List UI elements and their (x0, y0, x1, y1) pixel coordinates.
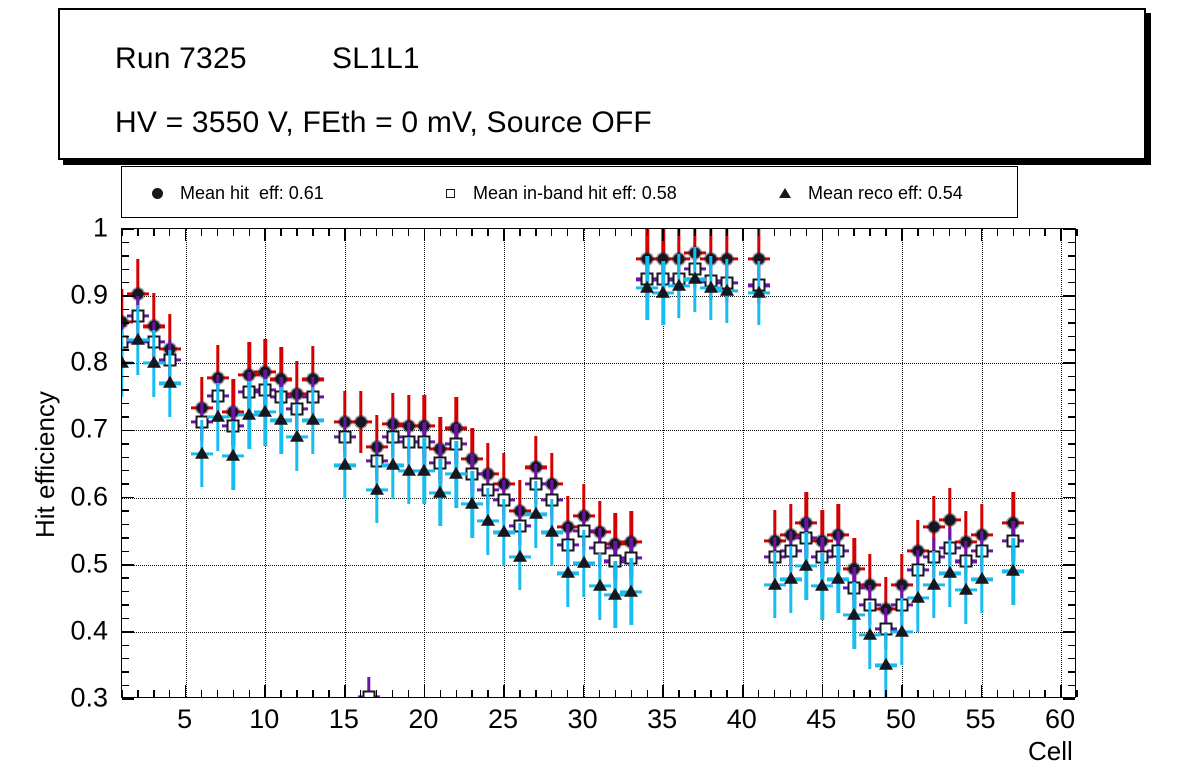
x-axis-tick-label: 15 (329, 704, 359, 735)
y-axis-minor-tick-right (1068, 336, 1075, 337)
x-axis-minor-tick-top (965, 229, 966, 236)
y-axis-tick (122, 228, 134, 230)
data-point-hit-eff (928, 522, 939, 533)
y-axis-minor-tick-right (1068, 685, 1075, 686)
x-axis-tick (344, 685, 346, 697)
x-axis-minor-tick (933, 690, 934, 697)
x-axis-minor-tick (678, 690, 679, 697)
data-point-reco-eff (386, 458, 400, 470)
y-axis-tick-right (1063, 698, 1075, 700)
x-axis-minor-tick-top (121, 229, 122, 236)
x-axis-minor-tick (885, 690, 886, 697)
data-point-reco-eff (768, 578, 782, 590)
x-axis-minor-tick-top (487, 229, 488, 236)
filled-circle-icon (144, 188, 170, 199)
y-axis-minor-tick (122, 349, 129, 350)
legend-label-reco-eff: Mean reco eff: 0.54 (808, 183, 963, 204)
x-axis-tick (901, 685, 903, 697)
x-axis-minor-tick (567, 690, 568, 697)
x-axis-minor-tick-top (853, 229, 854, 236)
x-axis-minor-tick (296, 690, 297, 697)
y-axis-minor-tick (122, 403, 129, 404)
y-axis-tick-right (1063, 362, 1075, 364)
data-point-reco-eff (242, 408, 256, 420)
x-axis-minor-tick-top (280, 229, 281, 236)
data-point-reco-eff (306, 413, 320, 425)
y-axis-minor-tick-right (1068, 551, 1075, 552)
data-point-reco-eff (593, 579, 607, 591)
x-axis-tick-label: 35 (647, 704, 677, 735)
x-axis-minor-tick-top (249, 229, 250, 236)
x-axis-tick-label: 20 (408, 704, 438, 735)
data-point-inband-eff (362, 690, 375, 697)
data-point-reco-eff (847, 608, 861, 620)
data-point-reco-eff (481, 514, 495, 526)
x-axis-minor-tick-top (519, 229, 520, 236)
data-point-reco-eff (417, 464, 431, 476)
y-axis-tick-right (1063, 430, 1075, 432)
x-axis-tick (503, 685, 505, 697)
y-axis-minor-tick (122, 591, 129, 592)
y-axis-minor-tick-right (1068, 671, 1075, 672)
data-point-reco-eff (195, 447, 209, 459)
data-point-reco-eff (640, 281, 654, 293)
x-axis-minor-tick (328, 690, 329, 697)
x-axis-minor-tick-top (456, 229, 457, 236)
grid-line-vertical (186, 229, 187, 697)
y-axis-tick (122, 698, 134, 700)
y-axis-minor-tick-right (1068, 389, 1075, 390)
y-axis-minor-tick-right (1068, 510, 1075, 511)
data-point-reco-eff (402, 464, 416, 476)
y-axis-minor-tick (122, 483, 129, 484)
y-axis-tick-right (1063, 631, 1075, 633)
grid-line-vertical (1061, 229, 1062, 697)
y-axis-minor-tick (122, 470, 129, 471)
x-axis-minor-tick (360, 690, 361, 697)
x-axis-minor-tick-top (153, 229, 154, 236)
x-axis-minor-tick (615, 690, 616, 697)
x-axis-minor-tick-top (949, 229, 950, 236)
y-axis-minor-tick (122, 282, 129, 283)
data-point-reco-eff (879, 658, 893, 670)
y-axis-minor-tick (122, 322, 129, 323)
y-axis-tick-label: 0.6 (70, 481, 108, 512)
y-axis-tick-right (1063, 228, 1075, 230)
x-axis-minor-tick-top (328, 229, 329, 236)
x-axis-minor-tick-top (201, 229, 202, 236)
data-point-hit-eff (355, 416, 366, 427)
x-axis-tick-top (503, 229, 505, 241)
y-axis-tick-label: 1 (93, 213, 108, 244)
data-point-reco-eff (433, 486, 447, 498)
x-axis-minor-tick (806, 690, 807, 697)
x-axis-tick (742, 685, 744, 697)
x-axis-minor-tick (997, 690, 998, 697)
x-axis-minor-tick-top (440, 229, 441, 236)
y-axis-minor-tick (122, 510, 129, 511)
title-box: Run 7325 SL1L1 HV = 3550 V, FEth = 0 mV,… (58, 8, 1146, 160)
y-axis-tick-label: 0.3 (70, 683, 108, 714)
x-axis-minor-tick-top (615, 229, 616, 236)
y-axis-tick-label: 0.5 (70, 548, 108, 579)
x-axis-minor-tick (392, 690, 393, 697)
x-axis-minor-tick (233, 690, 234, 697)
grid-line-vertical (265, 229, 266, 697)
x-axis-minor-tick-top (997, 229, 998, 236)
y-axis-minor-tick (122, 457, 129, 458)
open-square-icon (437, 189, 463, 198)
x-axis-minor-tick (1076, 690, 1077, 697)
x-axis-minor-tick-top (710, 229, 711, 236)
x-axis-minor-tick (1044, 690, 1045, 697)
y-axis-minor-tick (122, 685, 129, 686)
x-axis-minor-tick (376, 690, 377, 697)
data-point-reco-eff (863, 628, 877, 640)
data-point-reco-eff (131, 333, 145, 345)
data-point-reco-eff (959, 583, 973, 595)
plot-area (122, 229, 1075, 697)
x-axis-minor-tick (1013, 690, 1014, 697)
run-title-line: Run 7325 SL1L1 (115, 42, 420, 76)
data-point-reco-eff (449, 467, 463, 479)
y-axis-minor-tick-right (1068, 524, 1075, 525)
x-axis-tick (264, 685, 266, 697)
y-axis-minor-tick (122, 416, 129, 417)
x-axis-tick-label: 30 (568, 704, 598, 735)
x-axis-minor-tick (312, 690, 313, 697)
y-axis-minor-tick-right (1068, 309, 1075, 310)
x-axis-minor-tick (201, 690, 202, 697)
data-point-reco-eff (1006, 564, 1020, 576)
x-axis-minor-tick-top (233, 229, 234, 236)
x-axis-tick-top (901, 229, 903, 241)
y-axis-tick (122, 497, 134, 499)
x-axis-minor-tick-top (694, 229, 695, 236)
x-axis-minor-tick (535, 690, 536, 697)
y-axis-minor-tick-right (1068, 349, 1075, 350)
x-axis-minor-tick-top (726, 229, 727, 236)
y-axis-tick (122, 564, 134, 566)
x-axis-minor-tick-top (774, 229, 775, 236)
x-axis-minor-tick (440, 690, 441, 697)
data-point-reco-eff (465, 497, 479, 509)
x-axis-minor-tick-top (535, 229, 536, 236)
x-axis-minor-tick (694, 690, 695, 697)
y-axis-minor-tick (122, 376, 129, 377)
x-axis-minor-tick-top (392, 229, 393, 236)
x-axis-minor-tick-top (1029, 229, 1030, 236)
x-axis-minor-tick-top (806, 229, 807, 236)
y-axis-minor-tick-right (1068, 255, 1075, 256)
x-axis-minor-tick-top (885, 229, 886, 236)
x-axis-tick-label: 55 (965, 704, 995, 735)
x-axis-tick (822, 685, 824, 697)
y-axis-minor-tick (122, 671, 129, 672)
x-axis-minor-tick (121, 690, 122, 697)
y-axis-minor-tick (122, 551, 129, 552)
y-axis-tick (122, 631, 134, 633)
y-axis-minor-tick (122, 524, 129, 525)
data-point-reco-eff (258, 405, 272, 417)
y-axis-minor-tick-right (1068, 537, 1075, 538)
x-axis-minor-tick-top (1076, 229, 1077, 236)
y-axis-minor-tick-right (1068, 269, 1075, 270)
x-axis-minor-tick (169, 690, 170, 697)
grid-line-vertical (584, 229, 585, 697)
grid-line-vertical (743, 229, 744, 697)
x-axis-minor-tick (280, 690, 281, 697)
y-axis-minor-tick-right (1068, 618, 1075, 619)
data-point-reco-eff (226, 449, 240, 461)
y-axis-tick-right (1063, 564, 1075, 566)
x-axis-minor-tick (249, 690, 250, 697)
data-point-reco-eff (752, 286, 766, 298)
x-axis-minor-tick-top (471, 229, 472, 236)
y-axis-tick-right (1063, 497, 1075, 499)
y-axis-minor-tick (122, 577, 129, 578)
y-axis-tick (122, 295, 134, 297)
y-axis-minor-tick-right (1068, 604, 1075, 605)
filled-triangle-icon (772, 188, 798, 198)
x-axis-minor-tick-top (917, 229, 918, 236)
y-axis-minor-tick-right (1068, 658, 1075, 659)
x-axis-minor-tick-top (567, 229, 568, 236)
y-axis-minor-tick (122, 645, 129, 646)
legend-label-inband-eff: Mean in-band hit eff: 0.58 (473, 183, 677, 204)
x-axis-minor-tick (710, 690, 711, 697)
grid-line-vertical (822, 229, 823, 697)
x-axis-tick-label: 40 (727, 704, 757, 735)
data-point-reco-eff (608, 588, 622, 600)
y-axis-tick-label: 0.9 (70, 280, 108, 311)
legend-entry-reco-eff: Mean reco eff: 0.54 (772, 167, 963, 219)
y-axis-minor-tick-right (1068, 470, 1075, 471)
data-point-reco-eff (370, 482, 384, 494)
data-point-reco-eff (290, 430, 304, 442)
data-point-reco-eff (147, 356, 161, 368)
x-axis-minor-tick-top (1044, 229, 1045, 236)
y-axis-minor-tick (122, 604, 129, 605)
data-point-reco-eff (561, 566, 575, 578)
x-axis-minor-tick (631, 690, 632, 697)
x-axis-minor-tick (917, 690, 918, 697)
x-axis-minor-tick-top (408, 229, 409, 236)
y-axis-minor-tick-right (1068, 242, 1075, 243)
y-axis-tick (122, 362, 134, 364)
x-axis-minor-tick-top (631, 229, 632, 236)
x-axis-title: Cell (1028, 736, 1073, 767)
data-point-hit-eff (944, 514, 955, 525)
y-axis-minor-tick-right (1068, 282, 1075, 283)
y-axis-minor-tick-right (1068, 483, 1075, 484)
x-axis-minor-tick (217, 690, 218, 697)
y-axis-minor-tick (122, 618, 129, 619)
x-axis-tick (662, 685, 664, 697)
x-axis-minor-tick-top (376, 229, 377, 236)
data-point-reco-eff (624, 584, 638, 596)
x-axis-minor-tick (774, 690, 775, 697)
grid-line-vertical (982, 229, 983, 697)
plot-frame (121, 228, 1076, 698)
data-point-reco-eff (513, 549, 527, 561)
y-axis-minor-tick (122, 336, 129, 337)
x-axis-minor-tick (551, 690, 552, 697)
x-axis-minor-tick-top (599, 229, 600, 236)
x-axis-minor-tick (838, 690, 839, 697)
x-axis-minor-tick (758, 690, 759, 697)
x-axis-tick-top (583, 229, 585, 241)
x-axis-minor-tick-top (790, 229, 791, 236)
x-axis-minor-tick (487, 690, 488, 697)
x-axis-minor-tick-top (838, 229, 839, 236)
data-point-reco-eff (704, 281, 718, 293)
data-point-reco-eff (545, 525, 559, 537)
data-point-reco-eff (672, 279, 686, 291)
legend-entry-inband-eff: Mean in-band hit eff: 0.58 (437, 167, 677, 219)
x-axis-minor-tick (153, 690, 154, 697)
x-axis-tick-label: 45 (806, 704, 836, 735)
x-axis-minor-tick (408, 690, 409, 697)
x-axis-tick-top (662, 229, 664, 241)
legend-entry-hit-eff: Mean hit eff: 0.61 (144, 167, 324, 219)
x-axis-minor-tick (471, 690, 472, 697)
x-axis-tick-top (185, 229, 187, 241)
y-axis-minor-tick (122, 269, 129, 270)
x-axis-minor-tick-top (758, 229, 759, 236)
x-axis-minor-tick (853, 690, 854, 697)
x-axis-tick-label: 5 (177, 704, 192, 735)
y-axis-minor-tick-right (1068, 322, 1075, 323)
data-point-reco-eff (211, 410, 225, 422)
data-point-reco-eff (815, 579, 829, 591)
data-point-reco-eff (911, 591, 925, 603)
x-axis-tick (981, 685, 983, 697)
data-point-reco-eff (927, 578, 941, 590)
x-axis-minor-tick (1029, 690, 1030, 697)
x-axis-tick-top (1060, 229, 1062, 241)
x-axis-minor-tick (965, 690, 966, 697)
x-axis-tick (185, 685, 187, 697)
x-axis-tick-top (981, 229, 983, 241)
y-axis-minor-tick-right (1068, 645, 1075, 646)
x-axis-minor-tick (519, 690, 520, 697)
x-axis-tick-label: 10 (249, 704, 279, 735)
data-point-reco-eff (784, 572, 798, 584)
x-axis-tick-top (822, 229, 824, 241)
y-axis-tick-label: 0.4 (70, 615, 108, 646)
y-axis-minor-tick (122, 242, 129, 243)
conditions-title-line: HV = 3550 V, FEth = 0 mV, Source OFF (115, 106, 652, 140)
x-axis-minor-tick-top (217, 229, 218, 236)
y-axis-minor-tick-right (1068, 457, 1075, 458)
x-axis-tick (424, 685, 426, 697)
y-axis-minor-tick (122, 537, 129, 538)
y-axis-minor-tick-right (1068, 591, 1075, 592)
x-axis-minor-tick-top (360, 229, 361, 236)
y-axis-tick-label: 0.7 (70, 414, 108, 445)
data-point-reco-eff (975, 572, 989, 584)
legend-label-hit-eff: Mean hit eff: 0.61 (180, 183, 324, 204)
x-axis-minor-tick (949, 690, 950, 697)
data-point-reco-eff (338, 458, 352, 470)
legend-box: Mean hit eff: 0.61 Mean in-band hit eff:… (121, 166, 1018, 218)
x-axis-tick-label: 50 (886, 704, 916, 735)
x-axis-minor-tick (599, 690, 600, 697)
x-axis-minor-tick-top (312, 229, 313, 236)
y-axis-minor-tick-right (1068, 577, 1075, 578)
data-point-reco-eff (497, 525, 511, 537)
y-axis-minor-tick (122, 443, 129, 444)
x-axis-minor-tick (869, 690, 870, 697)
x-axis-tick-label: 60 (1045, 704, 1075, 735)
x-axis-tick-top (344, 229, 346, 241)
y-axis-minor-tick (122, 389, 129, 390)
data-point-reco-eff (895, 625, 909, 637)
y-axis-minor-tick-right (1068, 443, 1075, 444)
x-axis-minor-tick-top (933, 229, 934, 236)
x-axis-tick-label: 25 (488, 704, 518, 735)
data-point-reco-eff (720, 284, 734, 296)
x-axis-minor-tick (790, 690, 791, 697)
data-point-reco-eff (529, 507, 543, 519)
data-point-reco-eff (656, 286, 670, 298)
y-axis-title: Hit efficiency (30, 391, 61, 538)
y-axis-minor-tick (122, 309, 129, 310)
x-axis-minor-tick-top (296, 229, 297, 236)
x-axis-minor-tick-top (678, 229, 679, 236)
y-axis-minor-tick-right (1068, 376, 1075, 377)
x-axis-tick-top (264, 229, 266, 241)
y-axis-minor-tick-right (1068, 403, 1075, 404)
x-axis-minor-tick (137, 690, 138, 697)
y-axis-minor-tick-right (1068, 416, 1075, 417)
x-axis-tick-top (742, 229, 744, 241)
x-axis-tick (1060, 685, 1062, 697)
x-axis-minor-tick (456, 690, 457, 697)
x-axis-tick-top (424, 229, 426, 241)
data-point-reco-eff (688, 272, 702, 284)
x-axis-tick (583, 685, 585, 697)
data-point-reco-eff (799, 559, 813, 571)
x-axis-minor-tick-top (169, 229, 170, 236)
x-axis-minor-tick (647, 690, 648, 697)
x-axis-minor-tick-top (137, 229, 138, 236)
x-axis-minor-tick (726, 690, 727, 697)
y-axis-tick (122, 430, 134, 432)
x-axis-minor-tick-top (551, 229, 552, 236)
data-point-reco-eff (943, 566, 957, 578)
y-axis-minor-tick (122, 658, 129, 659)
x-axis-minor-tick-top (869, 229, 870, 236)
data-point-reco-eff (274, 413, 288, 425)
y-axis-tick-right (1063, 295, 1075, 297)
y-axis-tick-label: 0.8 (70, 347, 108, 378)
data-point-reco-eff (831, 572, 845, 584)
data-point-reco-eff (163, 376, 177, 388)
y-axis-minor-tick (122, 255, 129, 256)
x-axis-minor-tick-top (647, 229, 648, 236)
data-point-reco-eff (577, 556, 591, 568)
x-axis-minor-tick-top (1013, 229, 1014, 236)
